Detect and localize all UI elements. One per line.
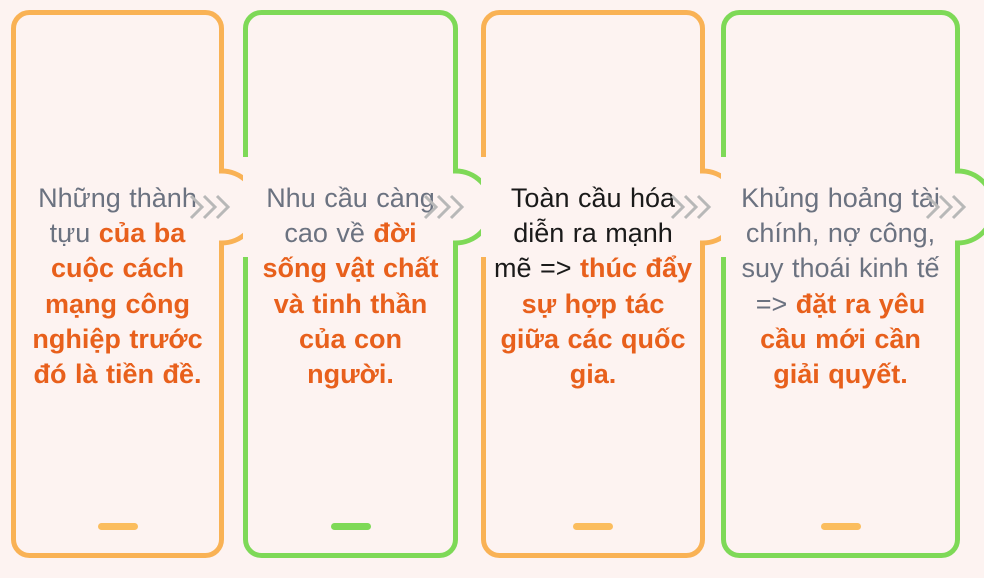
card-body-1: Những thành tựu của ba cuộc cách mạng cô…: [15, 50, 220, 523]
card-divider-dash-1: [98, 523, 138, 530]
process-step-card-2[interactable]: Nhu cầu càng cao về đời sống vật chất và…: [243, 10, 458, 558]
process-flow-board: Những thành tựu của ba cuộc cách mạng cô…: [0, 0, 984, 578]
process-step-card-1[interactable]: Những thành tựu của ba cuộc cách mạng cô…: [11, 10, 224, 558]
process-step-card-3[interactable]: Toàn cầu hóa diễn ra mạnh mẽ => thúc đẩy…: [481, 10, 705, 558]
card-body-3: Toàn cầu hóa diễn ra mạnh mẽ => thúc đẩy…: [485, 50, 701, 523]
card-body-2: Nhu cầu càng cao về đời sống vật chất và…: [247, 50, 454, 523]
card-divider-dash-4: [821, 523, 861, 530]
card-text-4: Khủng hoảng tài chính, nợ công, suy thoá…: [725, 181, 956, 392]
card-body-4: Khủng hoảng tài chính, nợ công, suy thoá…: [725, 50, 956, 523]
card-divider-dash-2: [331, 523, 371, 530]
process-step-card-4[interactable]: Khủng hoảng tài chính, nợ công, suy thoá…: [721, 10, 960, 558]
card-divider-dash-3: [573, 523, 613, 530]
card-text-2: Nhu cầu càng cao về đời sống vật chất và…: [247, 181, 454, 392]
card-text-1: Những thành tựu của ba cuộc cách mạng cô…: [15, 181, 220, 392]
card-text-3: Toàn cầu hóa diễn ra mạnh mẽ => thúc đẩy…: [485, 181, 701, 392]
